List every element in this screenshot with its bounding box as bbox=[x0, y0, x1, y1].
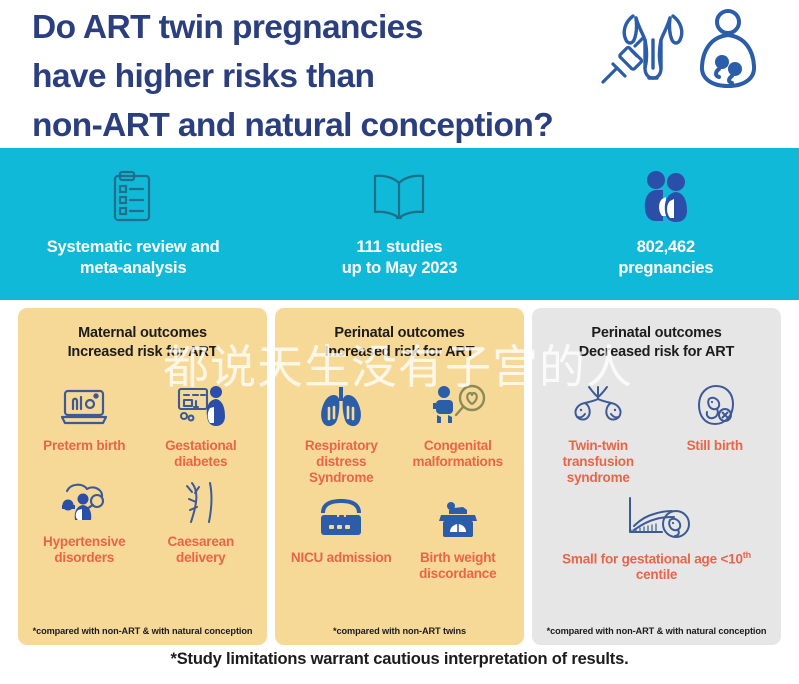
outcome-respiratory-distress: Respiratory distress Syndrome bbox=[283, 380, 400, 486]
stat-line-2: meta-analysis bbox=[80, 259, 187, 277]
outcome-panels: Maternal outcomes Increased risk for ART bbox=[0, 308, 799, 645]
outcome-label: Still birth bbox=[685, 438, 745, 454]
twin-fetuses-transfusion-icon bbox=[567, 380, 629, 432]
outcome-twin-twin-transfusion: Twin-twin transfusion syndrome bbox=[540, 380, 657, 486]
page-title: Do ART twin pregnancies have higher risk… bbox=[32, 4, 592, 151]
outcome-congenital-malformations: Congenital malformations bbox=[400, 380, 517, 486]
stat-studies-count: 111 studies up to May 2023 bbox=[266, 148, 532, 300]
header-icon-group bbox=[595, 6, 785, 96]
stillbirth-fetus-cross-icon bbox=[689, 380, 741, 432]
stat-pregnancies-count: 802,462 pregnancies bbox=[533, 148, 799, 300]
title-line-2: have higher risks than bbox=[32, 58, 374, 95]
stat-systematic-review: Systematic review and meta-analysis bbox=[0, 148, 266, 300]
stat-line-1: 111 studies bbox=[357, 238, 443, 256]
panel-title-line-2: Increased risk for ART bbox=[325, 344, 475, 360]
outcome-label: Congenital malformations bbox=[400, 438, 517, 470]
stat-line-2: up to May 2023 bbox=[342, 259, 458, 277]
outcome-label: Gestational diabetes bbox=[143, 438, 260, 470]
nicu-incubator-icon bbox=[315, 492, 367, 544]
header-icons-svg bbox=[595, 6, 785, 96]
outcome-small-for-gestational-age: Small for gestational age <10th centile bbox=[540, 492, 773, 583]
panel-title: Perinatal outcomes Decreased risk for AR… bbox=[540, 324, 773, 366]
two-pregnant-people-icon bbox=[638, 169, 694, 225]
syringe-icon bbox=[603, 38, 643, 82]
panel-maternal-increased: Maternal outcomes Increased risk for ART bbox=[18, 308, 267, 645]
panel-outcome-grid: Twin-twin transfusion syndrome St bbox=[540, 380, 773, 626]
open-book-icon bbox=[369, 169, 429, 225]
outcome-birth-weight-discordance: Birth weight discordance bbox=[400, 492, 517, 582]
panel-title-line-1: Perinatal outcomes bbox=[334, 325, 464, 341]
hypertensive-blood-pressure-icon bbox=[57, 476, 111, 528]
stat-label: Systematic review and meta-analysis bbox=[47, 237, 220, 278]
outcome-label-tail: centile bbox=[636, 567, 677, 582]
outcome-label: Caesarean delivery bbox=[143, 534, 260, 566]
panel-title-line-1: Maternal outcomes bbox=[78, 325, 207, 341]
header: Do ART twin pregnancies have higher risk… bbox=[0, 0, 799, 148]
outcome-label: Twin-twin transfusion syndrome bbox=[540, 438, 657, 486]
lungs-icon bbox=[315, 380, 367, 432]
outcome-still-birth: Still birth bbox=[657, 380, 774, 486]
panel-footnote: *compared with non-ART & with natural co… bbox=[540, 626, 773, 645]
stat-line-1: 802,462 bbox=[637, 238, 695, 256]
outcome-label: Respiratory distress Syndrome bbox=[283, 438, 400, 486]
outcome-preterm-birth: Preterm birth bbox=[26, 380, 143, 470]
outcome-gestational-diabetes: Gestational diabetes bbox=[143, 380, 260, 470]
outcome-label: Hypertensive disorders bbox=[26, 534, 143, 566]
stat-label: 111 studies up to May 2023 bbox=[342, 237, 458, 278]
panel-title: Perinatal outcomes Increased risk for AR… bbox=[283, 324, 516, 366]
outcome-label: Preterm birth bbox=[41, 438, 127, 454]
caesarean-scar-icon bbox=[178, 476, 224, 528]
footer-disclaimer: *Study limitations warrant cautious inte… bbox=[0, 650, 799, 669]
outcome-hypertensive-disorders: Hypertensive disorders bbox=[26, 476, 143, 566]
panel-title-line-1: Perinatal outcomes bbox=[591, 325, 721, 341]
outcome-label: Birth weight discordance bbox=[400, 550, 517, 582]
title-line-3: non-ART and natural conception? bbox=[32, 107, 553, 144]
panel-footnote: *compared with non-ART & with natural co… bbox=[26, 626, 259, 645]
clipboard-checklist-icon bbox=[107, 169, 159, 225]
pregnant-person-twins-icon bbox=[702, 11, 754, 86]
infographic-root: Do ART twin pregnancies have higher risk… bbox=[0, 0, 799, 684]
baby-magnifier-heart-icon bbox=[430, 380, 486, 432]
panel-title-line-2: Decreased risk for ART bbox=[579, 344, 734, 360]
growth-chart-fetus-icon bbox=[614, 492, 700, 544]
outcome-label-main: Small for gestational age <10 bbox=[562, 551, 743, 566]
panel-perinatal-decreased: Perinatal outcomes Decreased risk for AR… bbox=[532, 308, 781, 645]
panel-outcome-grid: Preterm birth bbox=[26, 380, 259, 626]
panel-title: Maternal outcomes Increased risk for ART bbox=[26, 324, 259, 366]
panel-footnote: *compared with non-ART twins bbox=[283, 626, 516, 645]
panel-outcome-grid: Respiratory distress Syndrome bbox=[283, 380, 516, 626]
panel-perinatal-increased: Perinatal outcomes Increased risk for AR… bbox=[275, 308, 524, 645]
outcome-label-superscript: th bbox=[743, 550, 751, 560]
baby-weighing-scale-icon bbox=[433, 492, 483, 544]
panel-title-line-2: Increased risk for ART bbox=[68, 344, 218, 360]
stat-label: 802,462 pregnancies bbox=[618, 237, 713, 278]
outcome-nicu-admission: NICU admission bbox=[283, 492, 400, 582]
preterm-birth-incubator-icon bbox=[59, 380, 109, 432]
outcome-caesarean-delivery: Caesarean delivery bbox=[143, 476, 260, 566]
gestational-diabetes-glucose-icon bbox=[175, 380, 227, 432]
stat-line-1: Systematic review and bbox=[47, 238, 220, 256]
stat-line-2: pregnancies bbox=[618, 259, 713, 277]
stats-band: Systematic review and meta-analysis 111 … bbox=[0, 148, 799, 300]
outcome-label: NICU admission bbox=[289, 550, 394, 566]
title-line-1: Do ART twin pregnancies bbox=[32, 9, 423, 46]
outcome-label: Small for gestational age <10th centile bbox=[540, 550, 773, 583]
